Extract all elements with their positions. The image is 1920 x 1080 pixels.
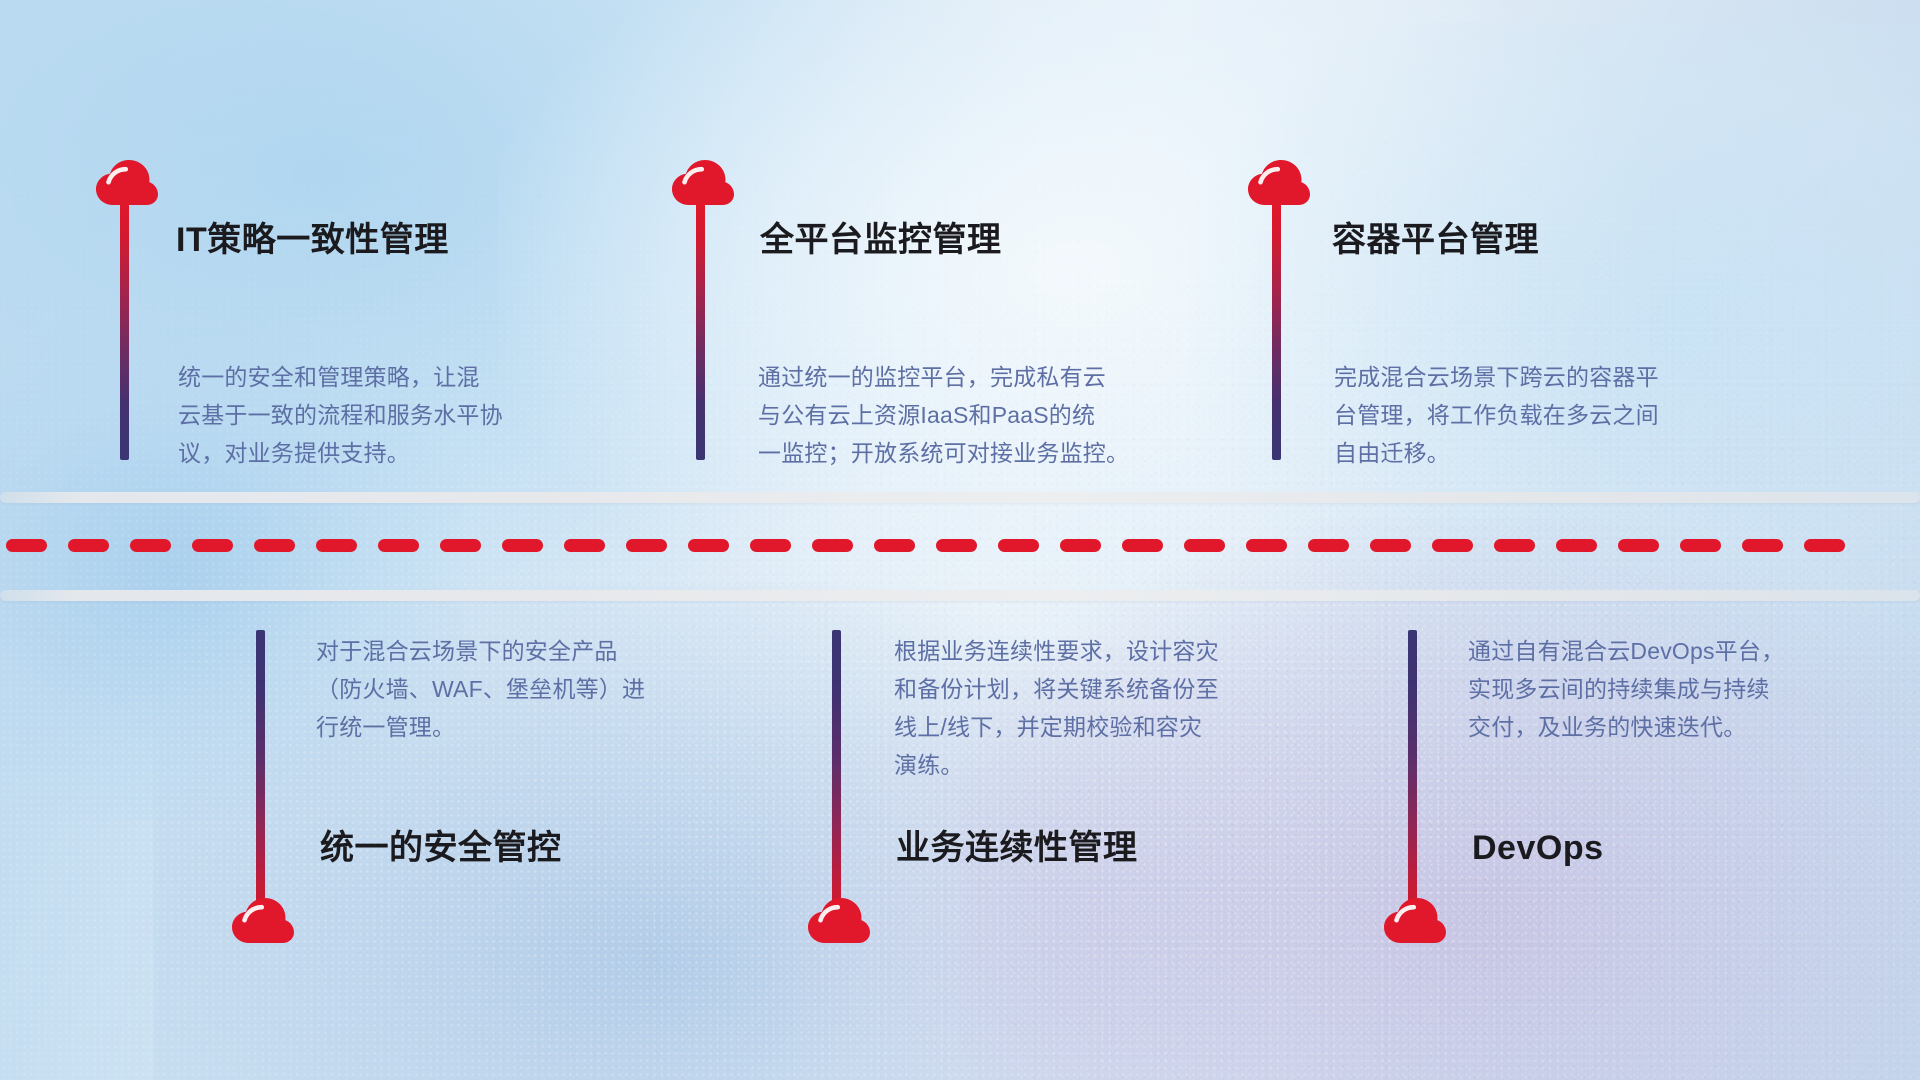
separator-dash [1370,539,1411,552]
separator-dash [502,539,543,552]
card-body: 统一的安全和管理策略，让混 云基于一致的流程和服务水平协 议，对业务提供支持。 [178,358,618,472]
cloud-icon [808,898,870,944]
pin-stem [832,630,841,922]
separator-dash [688,539,729,552]
separator-dash [1556,539,1597,552]
separator-dash [1246,539,1287,552]
infographic-canvas: IT策略一致性管理 统一的安全和管理策略，让混 云基于一致的流程和服务水平协 议… [0,0,1920,1080]
separator-dash [130,539,171,552]
card-title: 业务连续性管理 [896,828,1138,869]
pin-stem [1408,630,1417,922]
separator-dash [564,539,605,552]
separator-dash [1122,539,1163,552]
separator-dash [192,539,233,552]
separator-dash [1060,539,1101,552]
separator-dash [1680,539,1721,552]
separator-dash [626,539,667,552]
separator-dash [378,539,419,552]
separator-dash [440,539,481,552]
separator-dash [1494,539,1535,552]
card-body: 根据业务连续性要求，设计容灾 和备份计划，将关键系统备份至 线上/线下，并定期校… [894,632,1334,784]
separator-dash [254,539,295,552]
separator-dash [750,539,791,552]
separator-dash [1618,539,1659,552]
card-body: 完成混合云场景下跨云的容器平 台管理，将工作负载在多云之间 自由迁移。 [1334,358,1774,472]
separator-dash [1184,539,1225,552]
pin-stem [120,200,129,460]
divider-bar-top [0,492,1920,503]
card-body: 对于混合云场景下的安全产品 （防火墙、WAF、堡垒机等）进 行统一管理。 [316,632,746,746]
card-title: DevOps [1472,828,1604,869]
separator-dash [68,539,109,552]
pin-stem [1272,200,1281,460]
card-title: IT策略一致性管理 [176,220,449,261]
separator-dash [874,539,915,552]
divider-bar-bottom [0,590,1920,601]
card-title: 统一的安全管控 [320,828,562,869]
separator-dash [998,539,1039,552]
separator-dash [812,539,853,552]
separator-dash [1308,539,1349,552]
cloud-icon [232,898,294,944]
separator-dash [1804,539,1845,552]
separator-dash [316,539,357,552]
pin-stem [256,630,265,922]
separator-dash [6,539,47,552]
separator-dash [936,539,977,552]
separator-dash [1742,539,1783,552]
cloud-icon [1384,898,1446,944]
card-body: 通过自有混合云DevOps平台， 实现多云间的持续集成与持续 交付，及业务的快速… [1468,632,1898,746]
card-title: 全平台监控管理 [760,220,1002,261]
card-title: 容器平台管理 [1332,220,1539,261]
separator-dash [1432,539,1473,552]
red-dashed-separator [0,538,1920,552]
card-body: 通过统一的监控平台，完成私有云 与公有云上资源IaaS和PaaS的统 一监控；开… [758,358,1228,472]
pin-stem [696,200,705,460]
